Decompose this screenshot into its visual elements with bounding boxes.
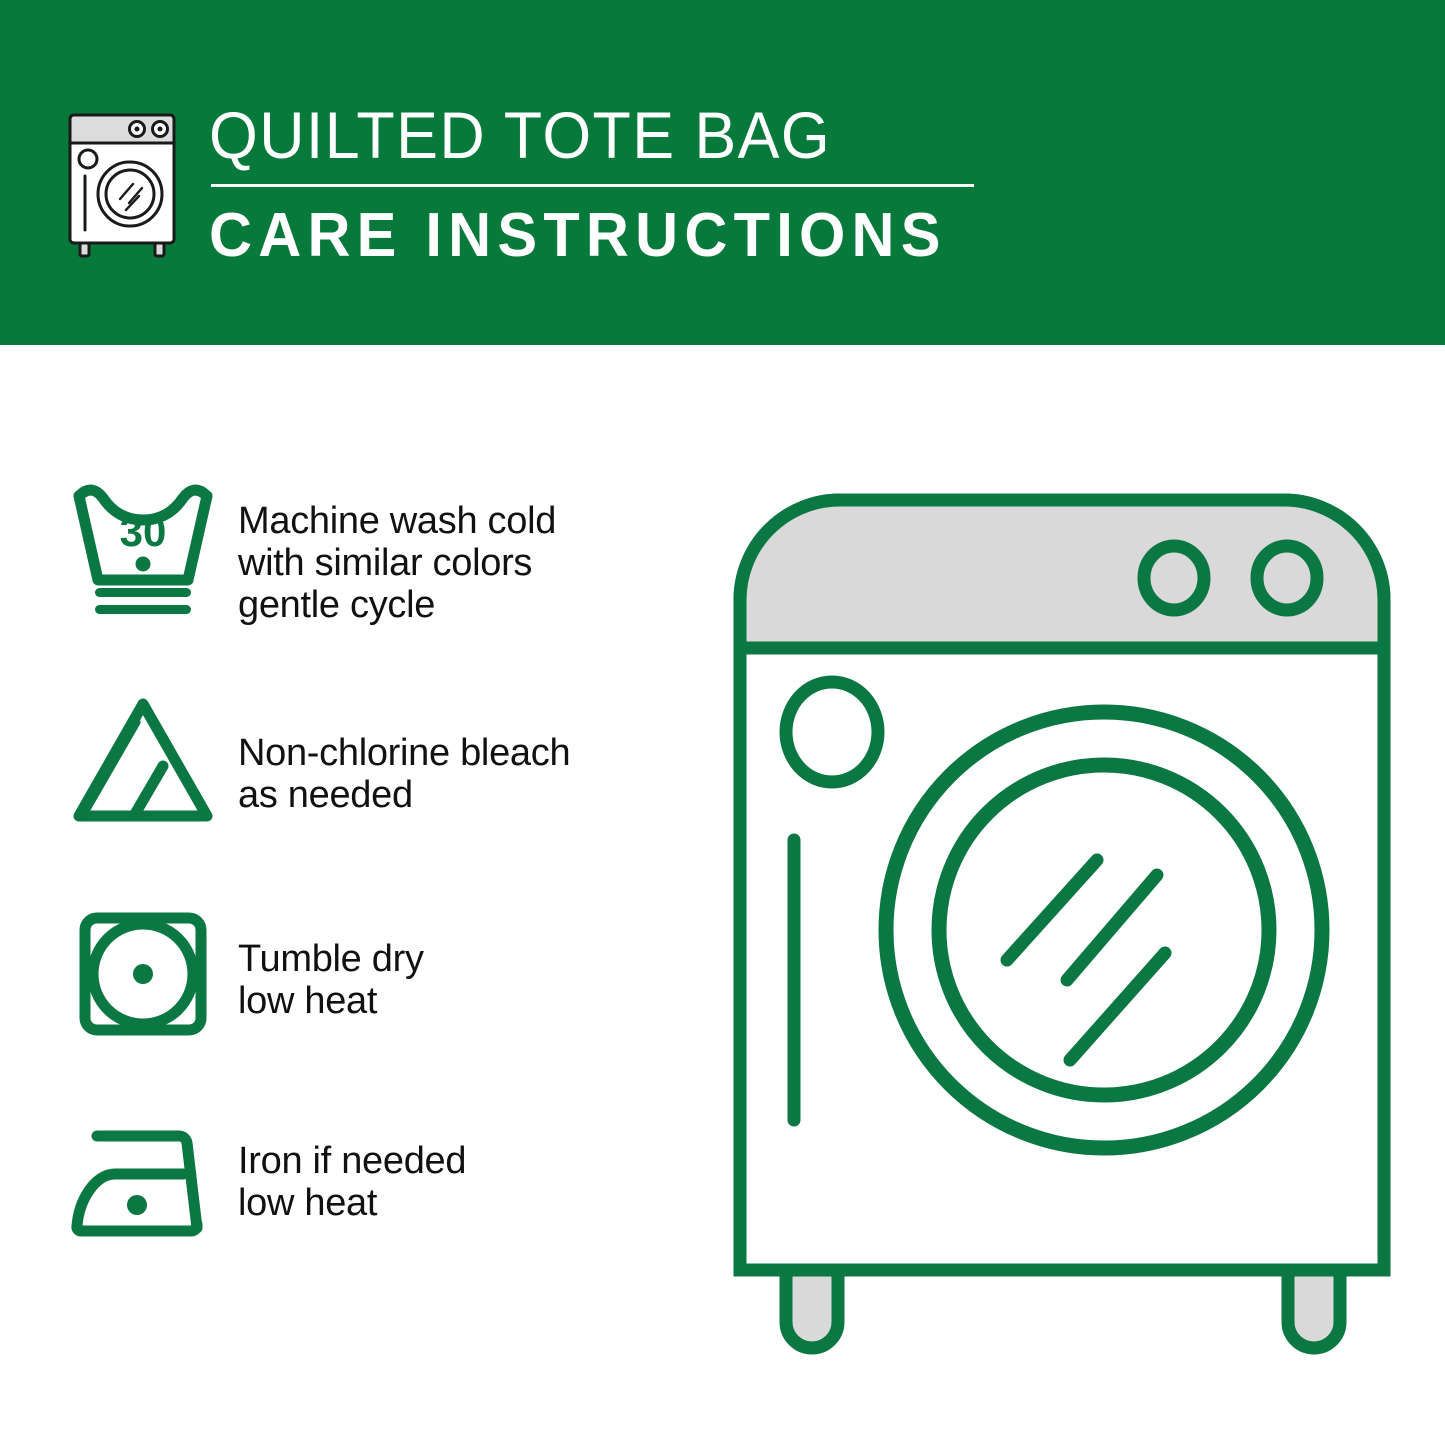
header-content: QUILTED TOTE BAG CARE INSTRUCTIONS [63, 98, 977, 271]
front-load-washing-machine-illustration [722, 480, 1402, 1370]
non-chlorine-bleach-triangle-icon [63, 682, 238, 838]
page-subtitle: CARE INSTRUCTIONS [209, 201, 946, 271]
care-text-line: low heat [238, 1182, 703, 1224]
list-item: Non-chlorine bleach as needed [63, 682, 703, 894]
care-text-line: Non-chlorine bleach [238, 732, 703, 774]
care-text-line: Iron if needed [238, 1140, 703, 1182]
machine-leg-left [786, 1270, 838, 1348]
tumble-dry-low-icon [63, 894, 238, 1050]
page-title: QUILTED TOTE BAG [209, 98, 939, 172]
care-text-line: gentle cycle [238, 584, 703, 626]
control-knob-left [1144, 546, 1204, 610]
list-item: Iron if needed low heat [63, 1106, 703, 1318]
care-text-line: low heat [238, 980, 703, 1022]
care-instructions-page: QUILTED TOTE BAG CARE INSTRUCTIONS 30 [0, 0, 1445, 1445]
iron-low-heat-icon [63, 1106, 238, 1262]
control-knob-right [1257, 546, 1317, 610]
care-text-line: Tumble dry [238, 938, 703, 980]
care-instruction-text: Iron if needed low heat [238, 1106, 703, 1224]
care-instruction-text: Machine wash cold with similar colors ge… [238, 470, 703, 626]
title-divider [211, 184, 974, 187]
care-instruction-text: Tumble dry low heat [238, 894, 703, 1022]
machine-leg-right [1288, 1270, 1340, 1348]
wash-tub-30-icon: 30 [63, 470, 238, 626]
care-text-line: Machine wash cold [238, 500, 703, 542]
header-banner: QUILTED TOTE BAG CARE INSTRUCTIONS [0, 0, 1445, 345]
care-text-line: as needed [238, 774, 703, 816]
machine-indicator-light [786, 682, 878, 782]
header-title-group: QUILTED TOTE BAG CARE INSTRUCTIONS [209, 98, 977, 271]
washing-machine-icon [63, 106, 181, 258]
care-instruction-text: Non-chlorine bleach as needed [238, 682, 703, 816]
wash-temperature-label: 30 [120, 508, 167, 555]
care-text-line: with similar colors [238, 542, 703, 584]
list-item: Tumble dry low heat [63, 894, 703, 1106]
list-item: 30 Machine wash cold with similar colors… [63, 470, 703, 682]
care-instruction-list: 30 Machine wash cold with similar colors… [63, 470, 703, 1318]
